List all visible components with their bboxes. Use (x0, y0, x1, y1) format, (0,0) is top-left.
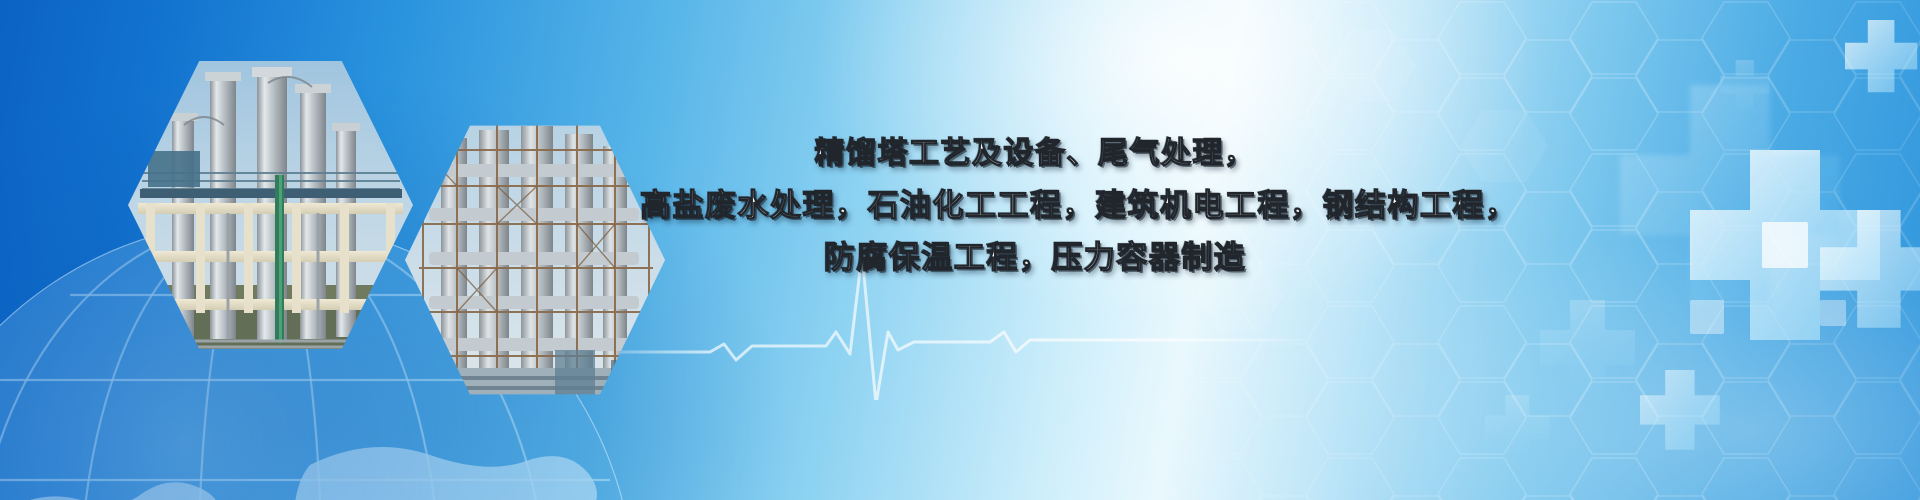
medical-cross-cluster-icon (1390, 0, 1920, 500)
refinery-scaffolding-photo (405, 120, 665, 400)
headline-line-2: 高盐废水处理，石油化工工程，建筑机电工程，钢结构工程， (640, 180, 1430, 232)
distillation-column-plant-photo (128, 55, 413, 355)
headline-line-1: 精馏塔工艺及设备、尾气处理， (640, 128, 1430, 180)
headline-block: 精馏塔工艺及设备、尾气处理， 高盐废水处理，石油化工工程，建筑机电工程，钢结构工… (640, 128, 1430, 284)
headline-line-3: 防腐保温工程，压力容器制造 (640, 232, 1430, 284)
promo-banner: 精馏塔工艺及设备、尾气处理， 高盐废水处理，石油化工工程，建筑机电工程，钢结构工… (0, 0, 1920, 500)
